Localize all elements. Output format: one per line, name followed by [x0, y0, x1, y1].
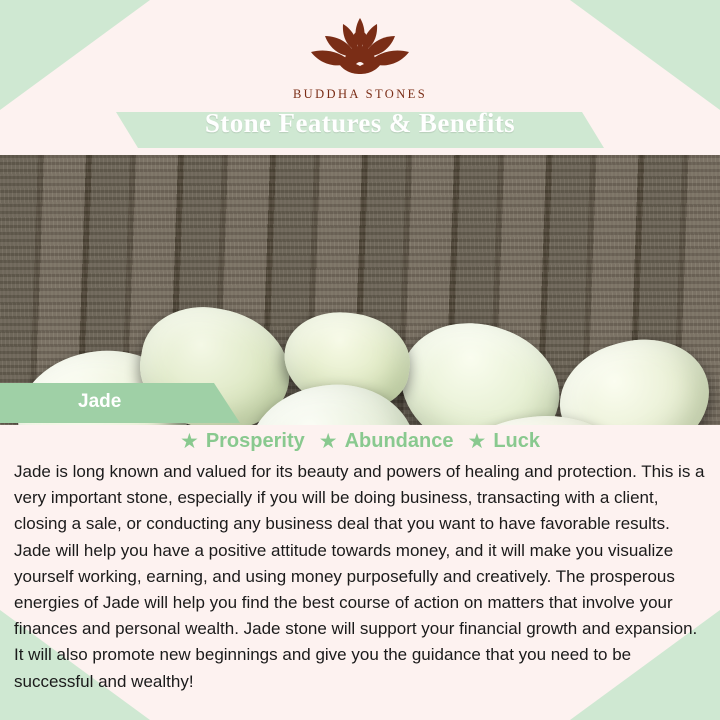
page-title: Stone Features & Benefits	[0, 108, 720, 139]
stone-name: Jade	[78, 391, 121, 413]
brand-name: BUDDHA STONES	[0, 87, 720, 102]
keyword-item: ★ Abundance	[319, 430, 454, 453]
brand-logo: BUDDHA STONES	[0, 12, 720, 102]
lotus-meditation-icon	[301, 12, 419, 84]
keyword-label: Prosperity	[206, 430, 305, 453]
star-icon: ★	[319, 431, 338, 452]
keyword-item: ★ Luck	[467, 430, 540, 453]
keyword-label: Luck	[493, 430, 540, 453]
stone-description: Jade is long known and valued for its be…	[14, 459, 708, 695]
star-icon: ★	[467, 431, 486, 452]
keyword-list: ★ Prosperity ★ Abundance ★ Luck	[0, 430, 720, 453]
keyword-item: ★ Prosperity	[180, 430, 305, 453]
star-icon: ★	[180, 431, 199, 452]
keyword-label: Abundance	[345, 430, 454, 453]
stone-info-card: BUDDHA STONES Stone Features & Benefits …	[0, 0, 720, 720]
